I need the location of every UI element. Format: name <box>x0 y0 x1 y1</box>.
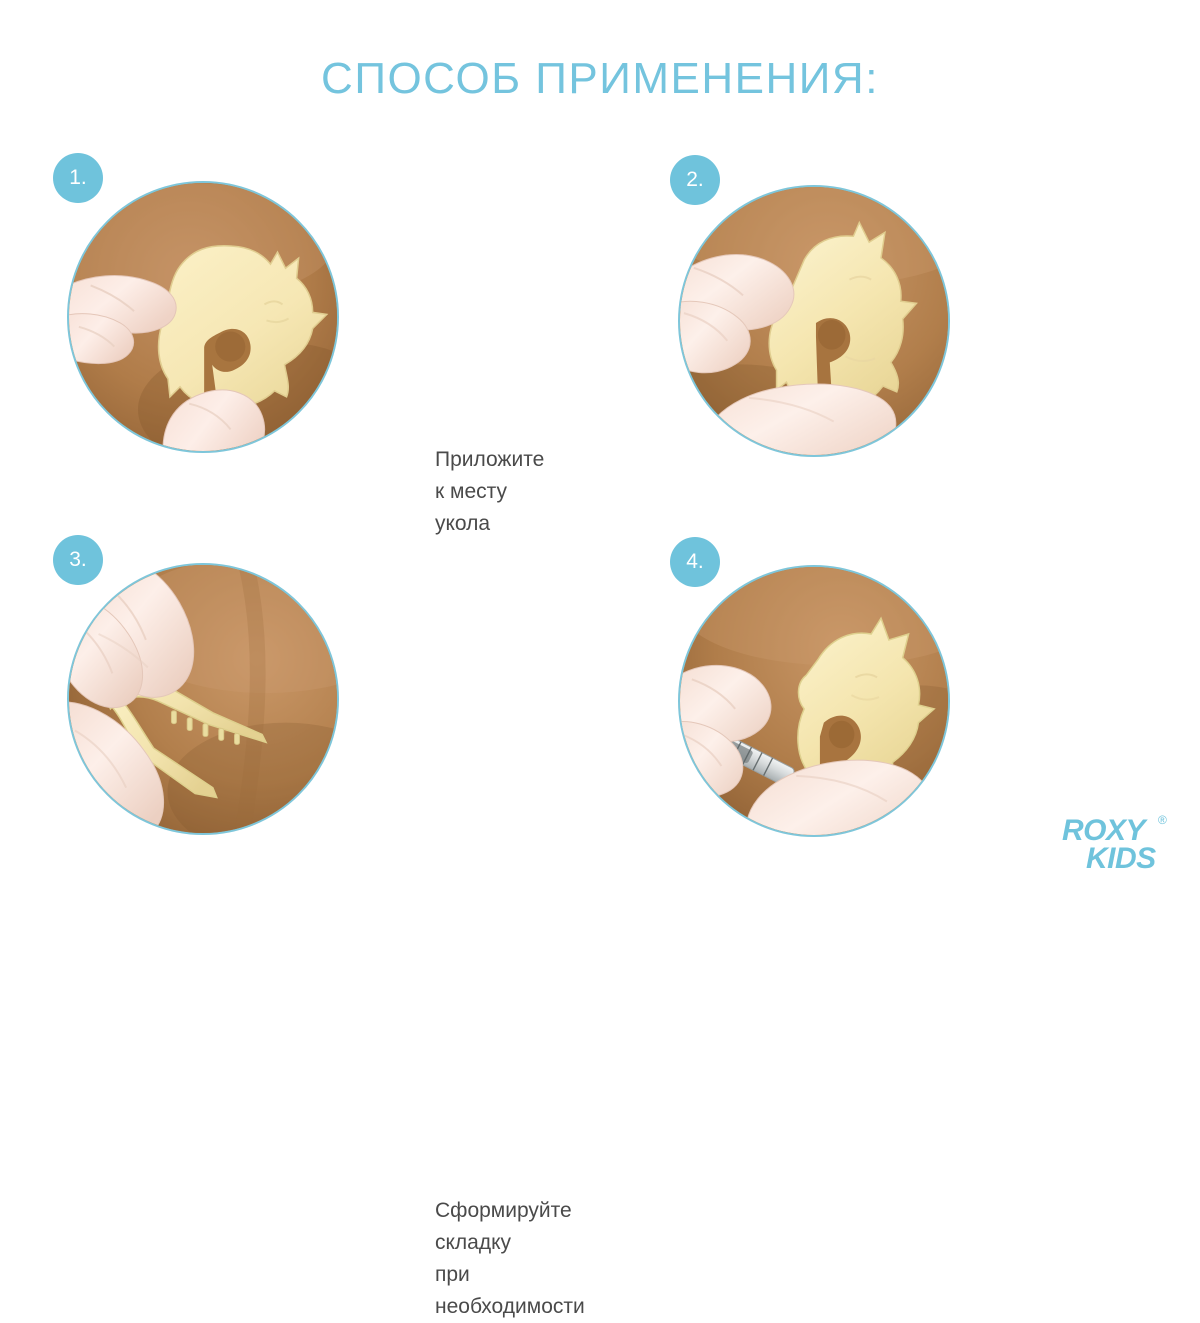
logo-trademark: ® <box>1158 813 1167 827</box>
step-photo-2 <box>678 185 950 457</box>
instruction-infographic: СПОСОБ ПРИМЕНЕНИЯ: 1. <box>0 0 1200 900</box>
step-caption-3: Сформируйте складку при необходимости <box>435 1195 585 1323</box>
step-photo-3 <box>67 563 339 835</box>
step-number-badge-1: 1. <box>53 153 103 203</box>
step-number-badge-4: 4. <box>670 537 720 587</box>
roxy-kids-logo: ROXY ® KIDS <box>1062 812 1180 874</box>
step-caption-1: Приложите к месту укола <box>435 444 544 540</box>
logo-line2: KIDS <box>1086 842 1156 874</box>
step-photo-1 <box>67 181 339 453</box>
step-photo-4 <box>678 565 950 837</box>
step-number-badge-3: 3. <box>53 535 103 585</box>
page-title: СПОСОБ ПРИМЕНЕНИЯ: <box>0 54 1200 104</box>
step-number-badge-2: 2. <box>670 155 720 205</box>
